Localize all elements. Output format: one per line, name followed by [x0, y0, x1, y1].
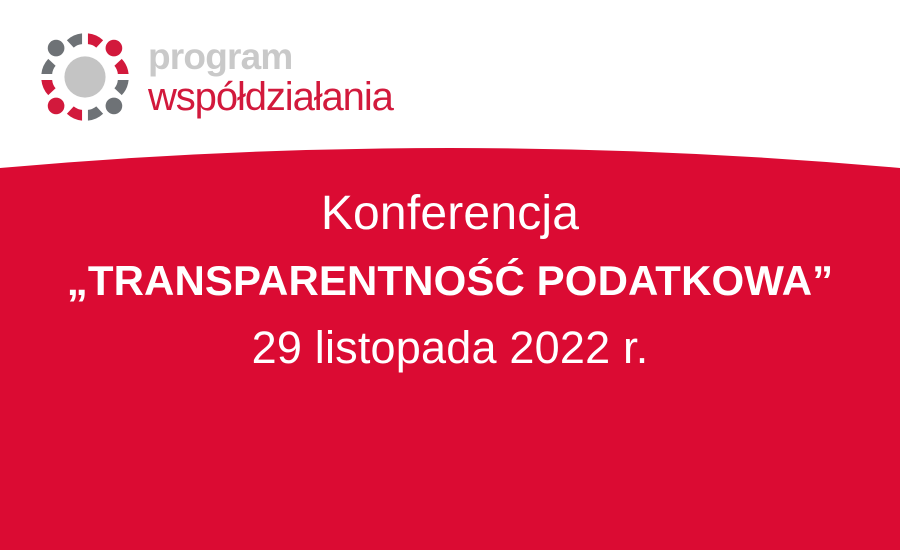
banner-text-block: Konferencja „TRANSPARENTNOŚĆ PODATKOWA” …	[0, 186, 900, 375]
logo-lockup: program współdziałania	[36, 28, 393, 126]
wordmark-line-wspoldzialania: współdziałania	[148, 77, 393, 119]
logo-center-circle	[64, 56, 105, 97]
event-date: 29 listopada 2022 r.	[0, 321, 900, 375]
wordmark-line-program: program	[148, 38, 393, 76]
poster-canvas: program współdziałania Konferencja „TRAN…	[0, 0, 900, 550]
event-kicker: Konferencja	[0, 186, 900, 243]
event-title: „TRANSPARENTNOŚĆ PODATKOWA”	[0, 256, 900, 306]
logo-wordmark: program współdziałania	[148, 36, 393, 118]
program-wspoldzialania-logo-icon	[36, 28, 134, 126]
